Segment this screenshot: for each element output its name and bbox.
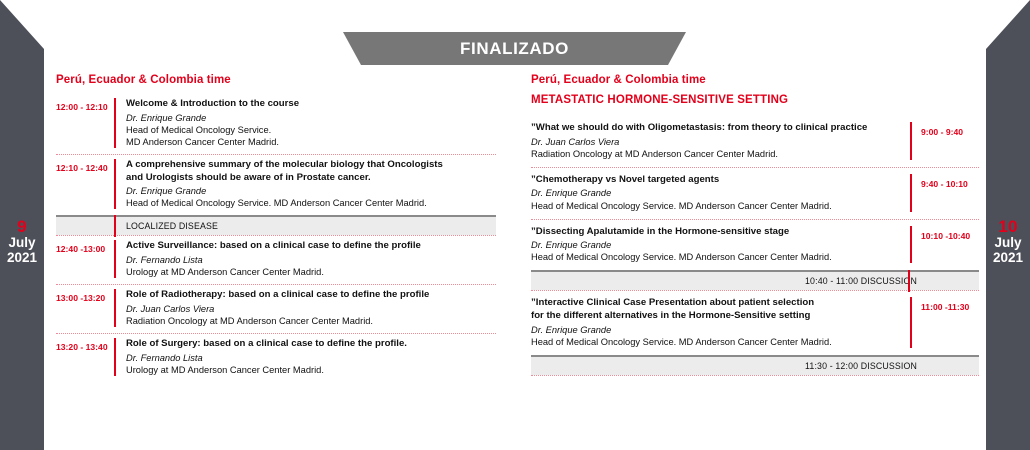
- session-accent-bar: [114, 159, 116, 209]
- session-accent-bar: [910, 297, 912, 347]
- session-affiliation: Urology at MD Anderson Cancer Center Mad…: [126, 364, 496, 376]
- session-affiliation: Head of Medical Oncology Service.: [126, 124, 496, 136]
- session-title: for the different alternatives in the Ho…: [531, 310, 902, 323]
- session-row[interactable]: ”Interactive Clinical Case Presentation …: [531, 291, 979, 354]
- session-speaker: Dr. Enrique Grande: [531, 187, 902, 199]
- right-timezone-heading: Perú, Ecuador & Colombia time: [531, 74, 979, 86]
- session-speaker: Dr. Enrique Grande: [126, 112, 496, 124]
- right-date-month: July: [978, 236, 1030, 251]
- session-body: Role of Surgery: based on a clinical cas…: [126, 338, 496, 376]
- discussion-band-label: 11:30 - 12:00 DISCUSSION: [805, 361, 917, 371]
- session-row[interactable]: ”Dissecting Apalutamide in the Hormone-s…: [531, 220, 979, 271]
- session-body: Active Surveillance: based on a clinical…: [126, 240, 496, 278]
- session-row[interactable]: 13:20 - 13:40 Role of Surgery: based on …: [56, 334, 496, 382]
- row-separator: [531, 375, 979, 376]
- session-affiliation: MD Anderson Cancer Center Madrid.: [126, 136, 496, 148]
- session-time: 13:00 -13:20: [56, 289, 114, 327]
- session-body: ”Dissecting Apalutamide in the Hormone-s…: [531, 226, 910, 264]
- right-date-year: 2021: [978, 251, 1030, 266]
- session-affiliation: Head of Medical Oncology Service. MD And…: [126, 197, 496, 209]
- right-date-block: 10 July 2021: [978, 218, 1030, 266]
- session-body: Role of Radiotherapy: based on a clinica…: [126, 289, 496, 327]
- session-time: 12:00 - 12:10: [56, 98, 114, 148]
- discussion-band-label: 10:40 - 11:00 DISCUSSION: [805, 276, 917, 286]
- left-date-month: July: [0, 236, 52, 251]
- session-row[interactable]: 13:00 -13:20 Role of Radiotherapy: based…: [56, 285, 496, 333]
- session-accent-bar: [114, 289, 116, 327]
- left-date-day: 9: [0, 218, 52, 236]
- section-band-localized-disease: LOCALIZED DISEASE: [56, 215, 496, 235]
- discussion-accent-segment: [908, 270, 910, 292]
- session-speaker: Dr. Fernando Lista: [126, 352, 496, 364]
- section-band-label: LOCALIZED DISEASE: [126, 221, 218, 231]
- session-title: ”What we should do with Oligometastasis:…: [531, 122, 902, 135]
- session-row[interactable]: ”What we should do with Oligometastasis:…: [531, 116, 979, 167]
- session-title: Active Surveillance: based on a clinical…: [126, 240, 496, 253]
- session-accent-bar: [114, 240, 116, 278]
- session-accent-bar: [910, 122, 912, 160]
- session-affiliation: Head of Medical Oncology Service. MD And…: [531, 336, 902, 348]
- session-body: ”Interactive Clinical Case Presentation …: [531, 297, 910, 347]
- status-banner: FINALIZADO: [343, 32, 686, 65]
- session-affiliation: Radiation Oncology at MD Anderson Cancer…: [126, 315, 496, 327]
- session-time: 12:40 -13:00: [56, 240, 114, 278]
- session-accent-bar: [910, 226, 912, 264]
- session-accent-bar: [114, 98, 116, 148]
- session-body: ”Chemotherapy vs Novel targeted agents D…: [531, 174, 910, 212]
- session-title: and Urologists should be aware of in Pro…: [126, 172, 496, 185]
- session-body: Welcome & Introduction to the course Dr.…: [126, 98, 496, 148]
- session-affiliation: Head of Medical Oncology Service. MD And…: [531, 200, 902, 212]
- session-title: ”Dissecting Apalutamide in the Hormone-s…: [531, 226, 902, 239]
- session-affiliation: Radiation Oncology at MD Anderson Cancer…: [531, 148, 902, 160]
- session-title: Role of Surgery: based on a clinical cas…: [126, 338, 496, 351]
- session-affiliation: Urology at MD Anderson Cancer Center Mad…: [126, 266, 496, 278]
- left-timezone-heading: Perú, Ecuador & Colombia time: [56, 74, 496, 86]
- left-date-panel: 9 July 2021: [0, 0, 60, 450]
- right-section-heading: METASTATIC HORMONE-SENSITIVE SETTING: [531, 94, 979, 106]
- schedule-column-day-10: Perú, Ecuador & Colombia time METASTATIC…: [531, 74, 979, 376]
- session-affiliation: Head of Medical Oncology Service. MD And…: [531, 251, 902, 263]
- session-speaker: Dr. Juan Carlos Viera: [126, 303, 496, 315]
- session-body: ”What we should do with Oligometastasis:…: [531, 122, 910, 160]
- session-row[interactable]: 12:00 - 12:10 Welcome & Introduction to …: [56, 94, 496, 154]
- section-accent-segment: [114, 215, 116, 237]
- session-row[interactable]: ”Chemotherapy vs Novel targeted agents D…: [531, 168, 979, 219]
- session-title: Welcome & Introduction to the course: [126, 98, 496, 111]
- right-date-panel: 10 July 2021: [970, 0, 1030, 450]
- schedule-column-day-9: Perú, Ecuador & Colombia time 12:00 - 12…: [56, 74, 496, 382]
- session-time: 13:20 - 13:40: [56, 338, 114, 376]
- session-speaker: Dr. Enrique Grande: [126, 185, 496, 197]
- status-banner-label: FINALIZADO: [460, 39, 569, 59]
- session-speaker: Dr. Juan Carlos Viera: [531, 136, 902, 148]
- session-accent-bar: [114, 338, 116, 376]
- session-body: A comprehensive summary of the molecular…: [126, 159, 496, 209]
- session-title: Role of Radiotherapy: based on a clinica…: [126, 289, 496, 302]
- right-date-day: 10: [978, 218, 1030, 236]
- session-time: 12:10 - 12:40: [56, 159, 114, 209]
- discussion-band: 11:30 - 12:00 DISCUSSION: [531, 355, 979, 375]
- session-speaker: Dr. Enrique Grande: [531, 324, 902, 336]
- session-title: A comprehensive summary of the molecular…: [126, 159, 496, 172]
- session-speaker: Dr. Enrique Grande: [531, 239, 902, 251]
- left-date-block: 9 July 2021: [0, 218, 52, 266]
- session-title: ”Chemotherapy vs Novel targeted agents: [531, 174, 902, 187]
- session-speaker: Dr. Fernando Lista: [126, 254, 496, 266]
- left-date-year: 2021: [0, 251, 52, 266]
- session-accent-bar: [910, 174, 912, 212]
- discussion-band: 10:40 - 11:00 DISCUSSION: [531, 270, 979, 290]
- session-row[interactable]: 12:10 - 12:40 A comprehensive summary of…: [56, 155, 496, 215]
- session-title: ”Interactive Clinical Case Presentation …: [531, 297, 902, 310]
- session-row[interactable]: 12:40 -13:00 Active Surveillance: based …: [56, 236, 496, 284]
